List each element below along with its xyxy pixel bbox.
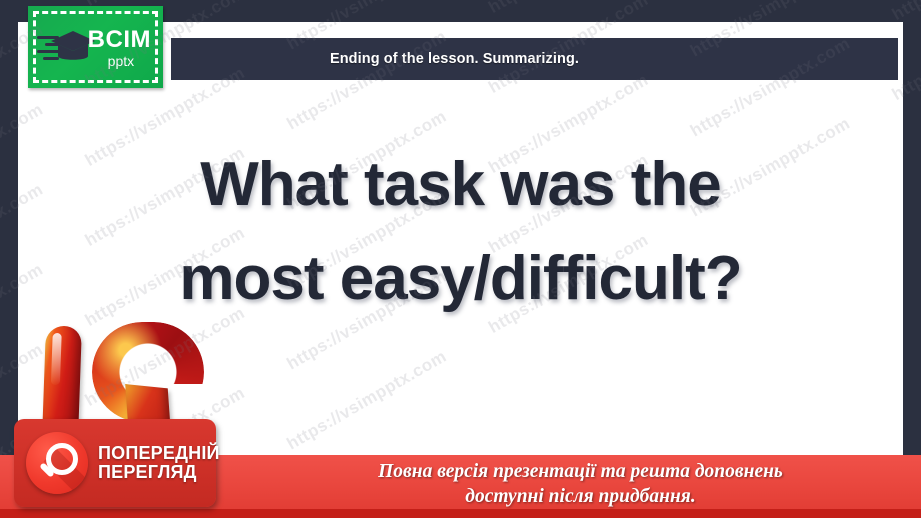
- preview-badge-line-1: ПОПЕРЕДНІЙ: [98, 444, 220, 463]
- magnifier-icon: [26, 432, 88, 494]
- presentation-slide: BCIM pptx Ending of the lesson. Summariz…: [0, 0, 921, 518]
- preview-badge: ПОПЕРЕДНІЙ ПЕРЕГЛЯД: [14, 419, 216, 507]
- slide-title-block: What task was the most easy/difficult?: [18, 138, 903, 326]
- preview-badge-line-2: ПЕРЕГЛЯД: [98, 463, 220, 482]
- purchase-notice-line-2: доступні після придбання.: [240, 485, 921, 510]
- slide-title-line-2: most easy/difficult?: [18, 232, 903, 326]
- slide-header-bar: Ending of the lesson. Summarizing.: [171, 38, 898, 80]
- logo-subtitle: pptx: [108, 54, 151, 69]
- purchase-notice-text: Повна версія презентації та решта доповн…: [240, 460, 921, 509]
- preview-badge-text: ПОПЕРЕДНІЙ ПЕРЕГЛЯД: [98, 444, 220, 482]
- watermark-text: https://vsimpptx.com: [485, 0, 651, 17]
- logo-wordmark: BCIM pptx: [88, 28, 151, 69]
- watermark-text: https://vsimpptx.com: [889, 0, 921, 24]
- slide-title-line-1: What task was the: [18, 138, 903, 232]
- purchase-notice-line-1: Повна версія презентації та решта доповн…: [240, 460, 921, 485]
- slide-header-title: Ending of the lesson. Summarizing.: [330, 51, 739, 67]
- logo-name: BCIM: [88, 28, 151, 52]
- banner-bottom-strip: [0, 509, 921, 518]
- bcim-pptx-logo: BCIM pptx: [28, 6, 163, 88]
